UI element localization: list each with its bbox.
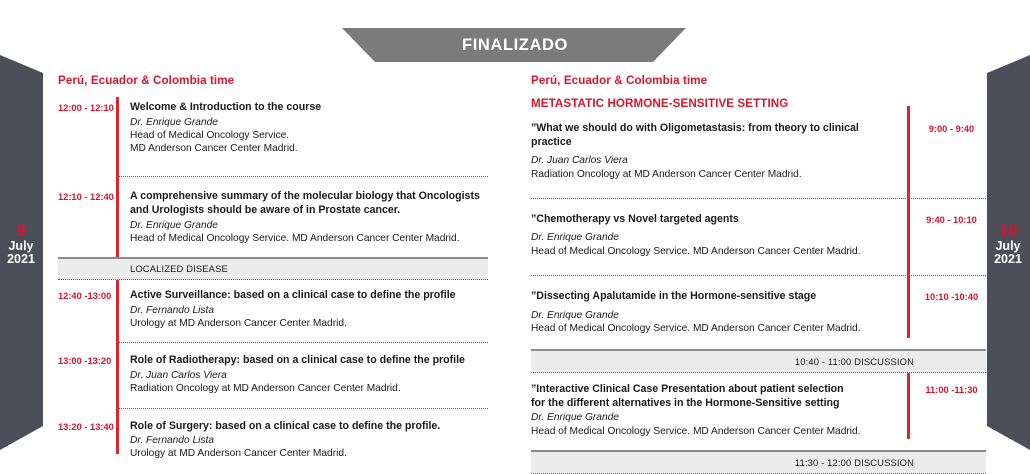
- session-speaker: Dr. Juan Carlos Viera: [130, 369, 488, 382]
- session-time: 9:40 - 10:10: [907, 213, 986, 258]
- session-title: A comprehensive summary of the molecular…: [130, 190, 488, 204]
- session-title: ”Interactive Clinical Case Presentation …: [531, 383, 899, 397]
- session-speaker: Dr. Enrique Grande: [531, 309, 899, 322]
- session-affiliation: Head of Medical Oncology Service. MD And…: [531, 425, 899, 438]
- day2-section-title: METASTATIC HORMONE-SENSITIVE SETTING: [531, 97, 986, 110]
- day1-timezone-title: Perú, Ecuador & Colombia time: [58, 74, 488, 87]
- day2-timezone-title: Perú, Ecuador & Colombia time: [531, 74, 986, 87]
- session-time: 11:00 -11:30: [907, 383, 986, 438]
- session-speaker: Dr. Juan Carlos Viera: [531, 154, 899, 167]
- section-band-localized-disease: LOCALIZED DISEASE: [58, 257, 488, 279]
- session-speaker: Dr. Enrique Grande: [531, 411, 899, 424]
- session-title: ”What we should do with Oligometastasis:…: [531, 122, 899, 149]
- session-affiliation: Radiation Oncology at MD Anderson Cancer…: [531, 168, 899, 181]
- left-date-block: 9 July 2021: [0, 222, 51, 267]
- session-time: 12:00 - 12:10: [58, 101, 118, 155]
- session-row[interactable]: 13:20 - 13:40 Role of Surgery: based on …: [58, 420, 488, 461]
- day2-block-2: ”Interactive Clinical Case Presentation …: [531, 373, 986, 450]
- day2-column: Perú, Ecuador & Colombia time METASTATIC…: [531, 74, 986, 474]
- session-speaker: Dr. Enrique Grande: [130, 219, 488, 232]
- session-row[interactable]: ”What we should do with Oligometastasis:…: [531, 122, 986, 181]
- session-affiliation: Urology at MD Anderson Cancer Center Mad…: [130, 317, 488, 330]
- session-row[interactable]: ”Dissecting Apalutamide in the Hormone-s…: [531, 290, 986, 335]
- status-banner-label: FINALIZADO: [330, 28, 700, 62]
- day1-column: Perú, Ecuador & Colombia time 12:00 - 12…: [58, 74, 488, 461]
- session-time: 10:10 -10:40: [907, 290, 986, 335]
- session-time: 12:40 -13:00: [58, 289, 118, 330]
- session-row[interactable]: 12:00 - 12:10 Welcome & Introduction to …: [58, 97, 488, 155]
- session-body: Active Surveillance: based on a clinical…: [118, 289, 488, 330]
- section-band-label: LOCALIZED DISEASE: [130, 263, 228, 274]
- session-body: ”Interactive Clinical Case Presentation …: [531, 383, 907, 438]
- left-date-month: July: [0, 240, 51, 253]
- session-body: Role of Radiotherapy: based on a clinica…: [118, 354, 488, 395]
- session-row[interactable]: 12:10 - 12:40 A comprehensive summary of…: [58, 190, 488, 245]
- session-speaker: Dr. Fernando Lista: [130, 434, 488, 447]
- session-body: ”Chemotherapy vs Novel targeted agents D…: [531, 213, 907, 258]
- session-speaker: Dr. Enrique Grande: [130, 116, 488, 129]
- discussion-band: 11:30 - 12:00 DISCUSSION: [531, 450, 986, 473]
- session-title: ”Chemotherapy vs Novel targeted agents: [531, 213, 899, 227]
- session-speaker: Dr. Enrique Grande: [531, 231, 899, 244]
- discussion-band-label: 11:30 - 12:00 DISCUSSION: [795, 457, 914, 468]
- session-affiliation: Head of Medical Oncology Service.: [130, 129, 488, 142]
- session-time: 13:20 - 13:40: [58, 420, 118, 461]
- session-affiliation: Radiation Oncology at MD Anderson Cancer…: [130, 382, 488, 395]
- session-affiliation: Urology at MD Anderson Cancer Center Mad…: [130, 447, 488, 460]
- session-body: ”Dissecting Apalutamide in the Hormone-s…: [531, 290, 907, 335]
- session-body: Role of Surgery: based on a clinical cas…: [118, 420, 488, 461]
- session-row[interactable]: ”Chemotherapy vs Novel targeted agents D…: [531, 213, 986, 258]
- session-time: 13:00 -13:20: [58, 354, 118, 395]
- session-title: Role of Surgery: based on a clinical cas…: [130, 420, 488, 434]
- session-affiliation: Head of Medical Oncology Service. MD And…: [531, 322, 899, 335]
- session-time: 9:00 - 9:40: [907, 122, 986, 181]
- discussion-band-label: 10:40 - 11:00 DISCUSSION: [795, 356, 914, 367]
- session-title-2: and Urologists should be aware of in Pro…: [130, 204, 488, 218]
- session-affiliation: Head of Medical Oncology Service. MD And…: [531, 245, 899, 258]
- discussion-band: 10:40 - 11:00 DISCUSSION: [531, 349, 986, 372]
- session-body: A comprehensive summary of the molecular…: [118, 190, 488, 245]
- session-title: Role of Radiotherapy: based on a clinica…: [130, 354, 488, 368]
- status-banner: FINALIZADO: [330, 28, 700, 62]
- agenda-canvas: 9 July 2021 10 July 2021 FINALIZADO Perú…: [0, 0, 1030, 450]
- session-title: ”Dissecting Apalutamide in the Hormone-s…: [531, 290, 899, 304]
- session-row[interactable]: ”Interactive Clinical Case Presentation …: [531, 383, 986, 438]
- left-date-year: 2021: [0, 253, 51, 266]
- day1-block-2: 12:40 -13:00 Active Surveillance: based …: [58, 280, 488, 460]
- session-affiliation: Head of Medical Oncology Service. MD And…: [130, 232, 488, 245]
- session-title: Active Surveillance: based on a clinical…: [130, 289, 488, 303]
- session-time: 12:10 - 12:40: [58, 190, 118, 245]
- session-title: Welcome & Introduction to the course: [130, 101, 488, 115]
- left-date-day: 9: [0, 222, 51, 240]
- session-affiliation-2: MD Anderson Cancer Center Madrid.: [130, 142, 488, 155]
- session-speaker: Dr. Fernando Lista: [130, 304, 488, 317]
- session-row[interactable]: 13:00 -13:20 Role of Radiotherapy: based…: [58, 354, 488, 395]
- session-body: Welcome & Introduction to the course Dr.…: [118, 101, 488, 155]
- session-body: ”What we should do with Oligometastasis:…: [531, 122, 907, 181]
- session-row[interactable]: 12:40 -13:00 Active Surveillance: based …: [58, 289, 488, 330]
- day2-block-1: ”What we should do with Oligometastasis:…: [531, 122, 986, 349]
- session-title-2: for the different alternatives in the Ho…: [531, 397, 899, 411]
- day1-block-1: 12:00 - 12:10 Welcome & Introduction to …: [58, 97, 488, 257]
